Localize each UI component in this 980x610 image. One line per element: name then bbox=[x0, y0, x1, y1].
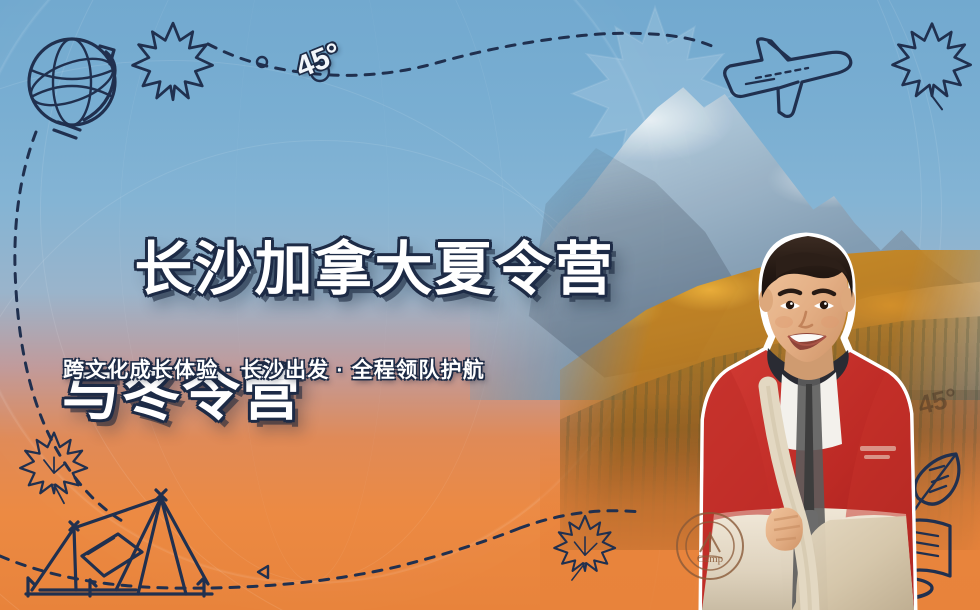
headline-line-1: 长沙加拿大夏令营 bbox=[134, 237, 614, 302]
camp-promo-banner: Camp 长沙加拿大夏令营 与冬令营 跨文化成长体验 · 长沙出发 · 全程领队… bbox=[0, 0, 980, 610]
camp-badge: Camp bbox=[672, 508, 748, 584]
maple-leaf-doodle-top-left bbox=[130, 18, 216, 104]
maple-leaf-watermark bbox=[560, 0, 750, 180]
airplane-doodle bbox=[700, 26, 870, 126]
page-subtitle: 跨文化成长体验 · 长沙出发 · 全程领队护航 bbox=[63, 354, 485, 384]
globe-doodle bbox=[14, 26, 132, 144]
camp-badge-text: Camp bbox=[697, 553, 724, 565]
angle-mark-top: 45° bbox=[291, 37, 346, 86]
angle-mark-right: 45° bbox=[915, 382, 961, 422]
maple-leaf-doodle-top-right bbox=[890, 18, 974, 110]
